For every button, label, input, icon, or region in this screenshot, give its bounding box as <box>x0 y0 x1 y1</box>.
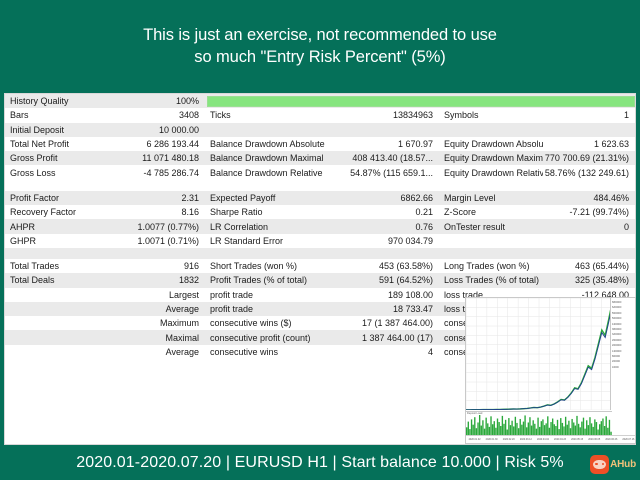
row-value-1: 8.16 <box>111 207 205 217</box>
x-tick-label: 2020.06.26 <box>605 438 617 441</box>
deposit-load-bar <box>542 419 543 436</box>
row-value-2: 1 670.97 <box>327 139 439 149</box>
row-label-3: OnTester result <box>439 222 543 232</box>
deposit-load-bar <box>468 422 469 436</box>
row-value-2: 1 387 464.00 (17) <box>327 333 439 343</box>
deposit-load-bar <box>568 421 569 436</box>
deposit-load-bar <box>520 419 521 436</box>
row-label-2: consecutive wins ($) <box>205 318 327 328</box>
y-tick-label: 10000 <box>612 365 635 370</box>
deposit-load-bar <box>576 416 577 436</box>
deposit-load-bar <box>533 420 534 436</box>
row-value-2: 13834963 <box>327 110 439 120</box>
row-value-1: Average <box>111 347 205 357</box>
report-spacer-row <box>5 180 635 191</box>
report-row: Total Net Profit6 286 193.44Balance Draw… <box>5 137 635 151</box>
deposit-load-bar <box>490 416 491 436</box>
row-value-2: 6862.66 <box>327 193 439 203</box>
deposit-load-svg <box>466 412 612 436</box>
x-tick-label: 2020.04.23 <box>554 438 566 441</box>
report-row: Total Trades916Short Trades (won %)453 (… <box>5 259 635 273</box>
x-tick-label: 2020.06.05 <box>588 438 600 441</box>
row-label-2: Balance Drawdown Maximal <box>205 153 327 163</box>
deposit-load-bar <box>477 422 478 436</box>
row-label-1: AHPR <box>5 222 111 232</box>
row-label-1: Recovery Factor <box>5 207 111 217</box>
deposit-load-bar <box>541 421 542 436</box>
pig-face-icon <box>593 460 606 469</box>
row-label-3: Z-Score <box>439 207 543 217</box>
row-value-1: -4 785 286.74 <box>111 168 205 178</box>
header-banner: This is just an exercise, not recommende… <box>0 0 640 92</box>
deposit-load-bar <box>609 420 610 436</box>
deposit-load-bar <box>511 421 512 436</box>
x-tick-label: 2020.05.15 <box>571 438 583 441</box>
row-value-3: 770 700.69 (21.31%) <box>543 153 635 163</box>
row-label-2: Balance Drawdown Relative <box>205 168 327 178</box>
equity-chart-plot <box>466 298 612 410</box>
report-row: Initial Deposit10 000.00 <box>5 123 635 137</box>
row-label-1: Total Deals <box>5 275 111 285</box>
row-label-2: Short Trades (won %) <box>205 261 327 271</box>
footer-bar: 2020.01-2020.07.20 | EURUSD H1 | Start b… <box>0 446 640 480</box>
equity-chart-y-axis: 6800000620000056000005000000440000038000… <box>610 298 635 410</box>
deposit-load-bar <box>586 420 587 436</box>
pig-badge-icon <box>590 455 609 474</box>
row-label-1: Bars <box>5 110 111 120</box>
row-value-3: 1 623.63 <box>543 139 635 149</box>
report-row: AHPR1.0077 (0.77%)LR Correlation0.76OnTe… <box>5 219 635 233</box>
equity-chart-svg <box>466 298 612 410</box>
row-label-1: History Quality <box>5 96 111 106</box>
deposit-load-bar <box>529 417 530 436</box>
deposit-load-bar <box>596 422 597 436</box>
row-value-1: 3408 <box>111 110 205 120</box>
x-tick-label: 2020.03.12 <box>520 438 532 441</box>
header-line-1: This is just an exercise, not recommende… <box>143 24 497 46</box>
deposit-load-bar <box>565 417 566 436</box>
row-value-1: 6 286 193.44 <box>111 139 205 149</box>
deposit-load-bar <box>515 417 516 436</box>
x-tick-label: 2020.04.02 <box>537 438 549 441</box>
row-label-1: Profit Factor <box>5 193 111 203</box>
row-value-1: 916 <box>111 261 205 271</box>
deposit-load-bar <box>479 415 480 436</box>
row-label-2: profit trade <box>205 290 327 300</box>
deposit-load-bar <box>594 419 595 436</box>
report-row: Gross Loss-4 785 286.74Balance Drawdown … <box>5 165 635 179</box>
row-value-1: Largest <box>111 290 205 300</box>
row-value-3: -7.21 (99.74%) <box>543 207 635 217</box>
report-screenshot: This is just an exercise, not recommende… <box>0 0 640 480</box>
deposit-load-bar <box>508 418 509 436</box>
row-label-1: Gross Loss <box>5 168 111 178</box>
row-value-2: 18 733.47 <box>327 304 439 314</box>
row-label-3: Margin Level <box>439 193 543 203</box>
deposit-load-bar <box>601 421 602 436</box>
report-row: Recovery Factor8.16Sharpe Ratio0.21Z-Sco… <box>5 205 635 219</box>
deposit-load-bar <box>560 418 561 436</box>
row-label-2: Profit Trades (% of total) <box>205 275 327 285</box>
row-value-3: 1 <box>543 110 635 120</box>
row-label-3: Equity Drawdown Maximal <box>439 153 543 163</box>
deposit-load-bar <box>606 416 607 436</box>
deposit-load-bar <box>505 420 506 436</box>
deposit-load-bar <box>552 419 553 436</box>
row-label-1: Total Trades <box>5 261 111 271</box>
row-value-1: Average <box>111 304 205 314</box>
deposit-load-bar <box>581 422 582 436</box>
row-value-2: 970 034.79 <box>327 236 439 246</box>
deposit-load-bar <box>485 418 486 436</box>
deposit-load-bar <box>550 422 551 436</box>
report-row: Bars3408Ticks13834963Symbols1 <box>5 108 635 122</box>
row-value-1: 1.0071 (0.71%) <box>111 236 205 246</box>
x-tick-label: 2020.01.30 <box>486 438 498 441</box>
row-label-2: LR Standard Error <box>205 236 327 246</box>
row-label-2: Sharpe Ratio <box>205 207 327 217</box>
row-label-1: GHPR <box>5 236 111 246</box>
row-label-1: Initial Deposit <box>5 125 111 135</box>
row-value-2: 54.87% (115 659.1... <box>327 168 439 178</box>
deposit-load-bar <box>583 418 584 436</box>
row-label-2: Ticks <box>205 110 327 120</box>
row-value-3: 463 (65.44%) <box>543 261 635 271</box>
x-tick-label: 2020.01.02 <box>469 438 481 441</box>
report-row: History Quality100% <box>5 94 635 108</box>
row-label-2: Balance Drawdown Absolute <box>205 139 327 149</box>
deposit-load-bar <box>602 419 603 436</box>
deposit-load-bar <box>497 419 498 436</box>
report-row: Profit Factor2.31Expected Payoff6862.66M… <box>5 191 635 205</box>
deposit-load-bar <box>589 417 590 436</box>
equity-chart-x-axis: 2020.01.022020.01.302020.02.202020.03.12… <box>466 435 636 443</box>
history-quality-bar <box>207 96 635 107</box>
deposit-load-bar <box>471 419 472 436</box>
row-label-2: Expected Payoff <box>205 193 327 203</box>
deposit-load-bar <box>502 416 503 436</box>
watermark-label: AHub <box>610 459 636 470</box>
row-value-2: 0.21 <box>327 207 439 217</box>
row-value-2: 0.76 <box>327 222 439 232</box>
row-label-3: Symbols <box>439 110 543 120</box>
row-value-2: 4 <box>327 347 439 357</box>
deposit-load-bar <box>524 415 525 436</box>
row-value-1: Maximal <box>111 333 205 343</box>
row-value-2: 591 (64.52%) <box>327 275 439 285</box>
deposit-load-bar <box>482 420 483 436</box>
x-tick-label: 2020.02.20 <box>503 438 515 441</box>
row-value-3: 484.46% <box>543 193 635 203</box>
row-value-3: 325 (35.48%) <box>543 275 635 285</box>
deposit-load-bar <box>494 421 495 436</box>
deposit-load-bar <box>571 419 572 436</box>
row-value-2: 17 (1 387 464.00) <box>327 318 439 328</box>
row-label-3: Equity Drawdown Relative <box>439 168 543 178</box>
x-tick-label: 2020.07.16 <box>622 438 634 441</box>
row-value-1: 1832 <box>111 275 205 285</box>
report-row: Gross Profit11 071 480.18Balance Drawdow… <box>5 151 635 165</box>
deposit-load-bar <box>528 422 529 436</box>
row-value-3: 0 <box>543 222 635 232</box>
deposit-load-bar <box>547 416 548 436</box>
deposit-load-bar <box>557 420 558 436</box>
report-row: GHPR1.0071 (0.71%)LR Standard Error970 0… <box>5 234 635 248</box>
row-value-1: 1.0077 (0.77%) <box>111 222 205 232</box>
row-value-1: 100% <box>111 96 205 106</box>
row-label-1: Total Net Profit <box>5 139 111 149</box>
row-label-1: Gross Profit <box>5 153 111 163</box>
deposit-load-label: Deposit Load <box>467 412 482 415</box>
row-label-2: profit trade <box>205 304 327 314</box>
deposit-load-bar <box>474 417 475 436</box>
row-value-1: 11 071 480.18 <box>111 153 205 163</box>
row-label-2: consecutive wins <box>205 347 327 357</box>
row-label-3: Long Trades (won %) <box>439 261 543 271</box>
deposit-load-bar <box>537 418 538 436</box>
deposit-load-bar <box>523 422 524 436</box>
row-label-2: consecutive profit (count) <box>205 333 327 343</box>
deposit-load-bar <box>573 422 574 436</box>
row-value-2: 453 (63.58%) <box>327 261 439 271</box>
row-label-3: Equity Drawdown Absolute <box>439 139 543 149</box>
watermark: AHub <box>590 455 636 474</box>
row-value-2: 189 108.00 <box>327 290 439 300</box>
footer-summary-text: 2020.01-2020.07.20 | EURUSD H1 | Start b… <box>76 454 564 472</box>
equity-chart-inset[interactable]: 6800000620000056000005000000440000038000… <box>465 297 636 444</box>
report-spacer-row <box>5 248 635 259</box>
row-value-1: Maximum <box>111 318 205 328</box>
report-row: Total Deals1832Profit Trades (% of total… <box>5 273 635 287</box>
row-label-2: LR Correlation <box>205 222 327 232</box>
row-value-1: 10 000.00 <box>111 125 205 135</box>
deposit-load-histogram: Deposit Load <box>466 411 612 436</box>
row-value-1: 2.31 <box>111 193 205 203</box>
header-line-2: so much "Entry Risk Percent" (5%) <box>194 46 445 68</box>
deposit-load-bar <box>498 422 499 436</box>
row-value-2: 408 413.40 (18.57... <box>327 153 439 163</box>
row-label-3: Loss Trades (% of total) <box>439 275 543 285</box>
row-value-3: 58.76% (132 249.61) <box>543 168 635 178</box>
